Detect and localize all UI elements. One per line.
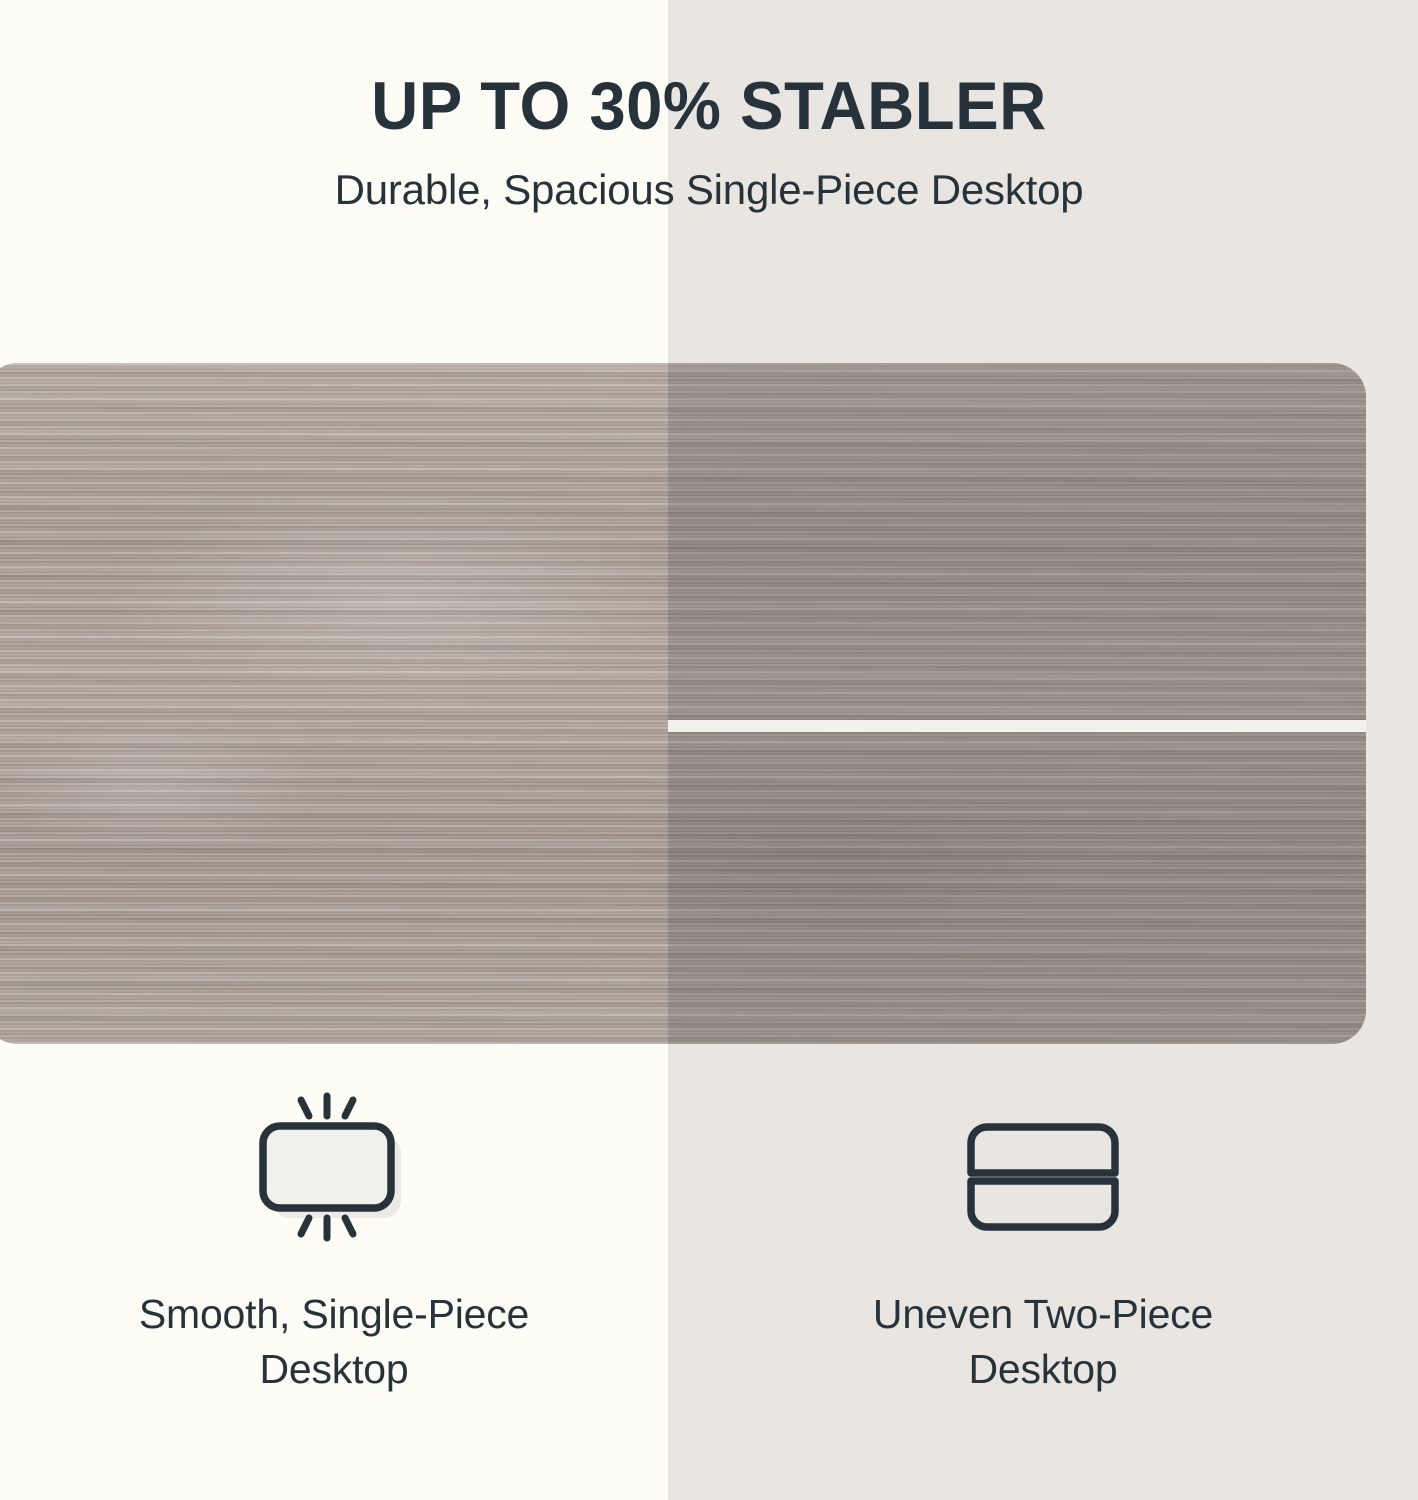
two-panel-split-icon: [948, 1085, 1138, 1265]
single-panel-highlight-icon: [239, 1085, 429, 1265]
comparison-column-right: Uneven Two-Piece Desktop: [668, 1085, 1418, 1445]
desktop-comparison-photo: [0, 363, 1366, 1044]
comparison-column-left: Smooth, Single-Piece Desktop: [0, 1085, 668, 1445]
comparison-row: Smooth, Single-Piece Desktop Uneven Two-…: [0, 1085, 1418, 1445]
desktop-seam-line: [668, 720, 1366, 732]
header: UP TO 30% STABLER Durable, Spacious Sing…: [0, 0, 1418, 214]
infographic-page: UP TO 30% STABLER Durable, Spacious Sing…: [0, 0, 1418, 1500]
comparison-caption-right: Uneven Two-Piece Desktop: [808, 1265, 1278, 1396]
headline: UP TO 30% STABLER: [28, 0, 1389, 140]
comparison-caption-left: Smooth, Single-Piece Desktop: [99, 1265, 569, 1396]
subheadline: Durable, Spacious Single-Piece Desktop: [0, 140, 1418, 214]
photo-shade-overlay-right: [668, 363, 1366, 1044]
